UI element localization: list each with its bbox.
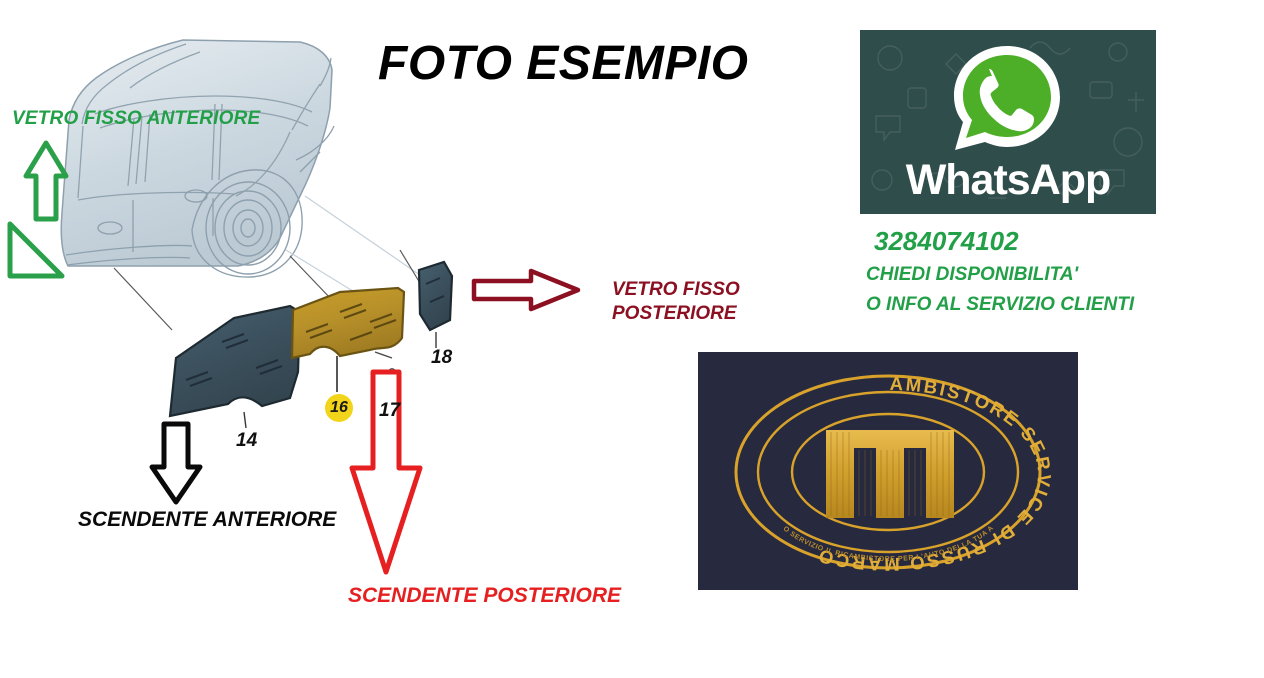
part-number-17: 17 xyxy=(379,400,400,422)
whatsapp-banner: WhatsApp xyxy=(860,30,1156,214)
shop-logo-monogram xyxy=(826,430,954,518)
shop-logo-graphic: MRICAMBISTORE SERVICE DI RUSSO MARCO AL … xyxy=(698,352,1078,590)
part-number-18: 18 xyxy=(431,347,452,369)
label-vetro-fisso-posteriore: VETRO FISSO POSTERIORE xyxy=(612,278,740,326)
label-vetro-fisso-posteriore-line2: POSTERIORE xyxy=(612,302,740,326)
part-front-drop-glass xyxy=(170,306,300,428)
whatsapp-cta-line1: CHIEDI DISPONIBILITA' xyxy=(866,264,1078,286)
part-rear-fixed-glass xyxy=(419,262,452,348)
whatsapp-phone-number[interactable]: 3284074102 xyxy=(874,226,1019,257)
label-scendente-anteriore: SCENDENTE ANTERIORE xyxy=(78,508,336,532)
whatsapp-phone-icon xyxy=(944,40,1070,158)
part-rear-drop-guide xyxy=(375,352,398,404)
label-vetro-fisso-anteriore: VETRO FISSO ANTERIORE xyxy=(12,108,260,130)
part-number-16-badge: 16 xyxy=(325,394,353,422)
poster-canvas: FOTO ESEMPIO VETRO FISSO ANTERIORE VETRO… xyxy=(0,0,1264,678)
whatsapp-cta-line2: O INFO AL SERVIZIO CLIENTI xyxy=(866,294,1134,316)
page-title: FOTO ESEMPIO xyxy=(378,36,749,91)
label-scendente-posteriore: SCENDENTE POSTERIORE xyxy=(348,584,621,608)
whatsapp-wordmark: WhatsApp xyxy=(860,156,1156,205)
label-vetro-fisso-posteriore-line1: VETRO FISSO xyxy=(612,278,740,302)
part-number-14: 14 xyxy=(236,430,257,452)
shop-logo-banner: MRICAMBISTORE SERVICE DI RUSSO MARCO AL … xyxy=(698,352,1078,590)
